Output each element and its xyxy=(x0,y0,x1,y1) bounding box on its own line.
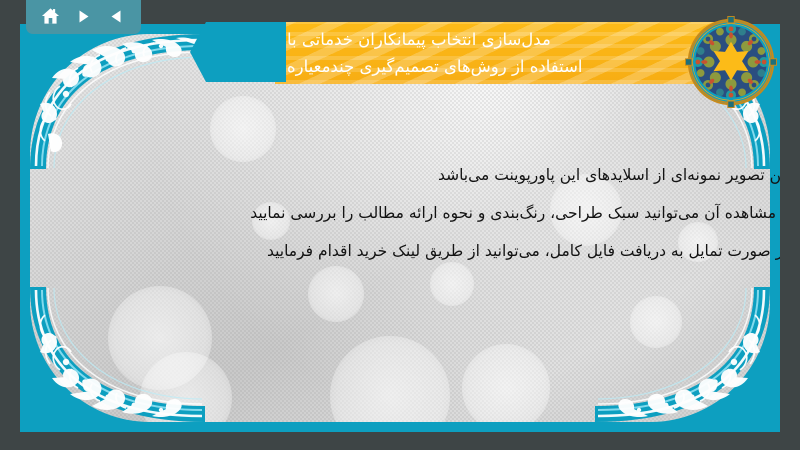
home-icon xyxy=(41,7,60,26)
slide-title-banner: مدل‌سازی انتخاب پیمانکاران خدماتی با است… xyxy=(275,22,740,84)
title-line-2: استفاده از روش‌های تصمیم‌گیری چندمعیاره xyxy=(287,53,583,80)
title-line-1: مدل‌سازی انتخاب پیمانکاران خدماتی با xyxy=(287,26,551,53)
body-line-2: با مشاهده آن می‌توانید سبک طراحی، رنگ‌بن… xyxy=(80,194,780,232)
next-slide-button[interactable] xyxy=(71,4,97,28)
islamic-medallion-ornament xyxy=(685,16,777,108)
triangle-right-icon xyxy=(75,8,92,25)
slide-viewer: این تصویر نمونه‌ای از اسلایدهای این پاور… xyxy=(0,0,800,450)
previous-slide-button[interactable] xyxy=(104,4,130,28)
triangle-left-icon xyxy=(108,8,125,25)
slide-body-text: این تصویر نمونه‌ای از اسلایدهای این پاور… xyxy=(80,156,780,270)
body-line-3: در صورت تمایل به دریافت فایل کامل، می‌تو… xyxy=(80,232,780,270)
title-chevron-connector xyxy=(190,22,286,82)
slide-canvas: این تصویر نمونه‌ای از اسلایدهای این پاور… xyxy=(20,24,780,432)
home-button[interactable] xyxy=(38,4,64,28)
navigation-bar xyxy=(26,0,141,34)
body-line-1: این تصویر نمونه‌ای از اسلایدهای این پاور… xyxy=(80,156,780,194)
